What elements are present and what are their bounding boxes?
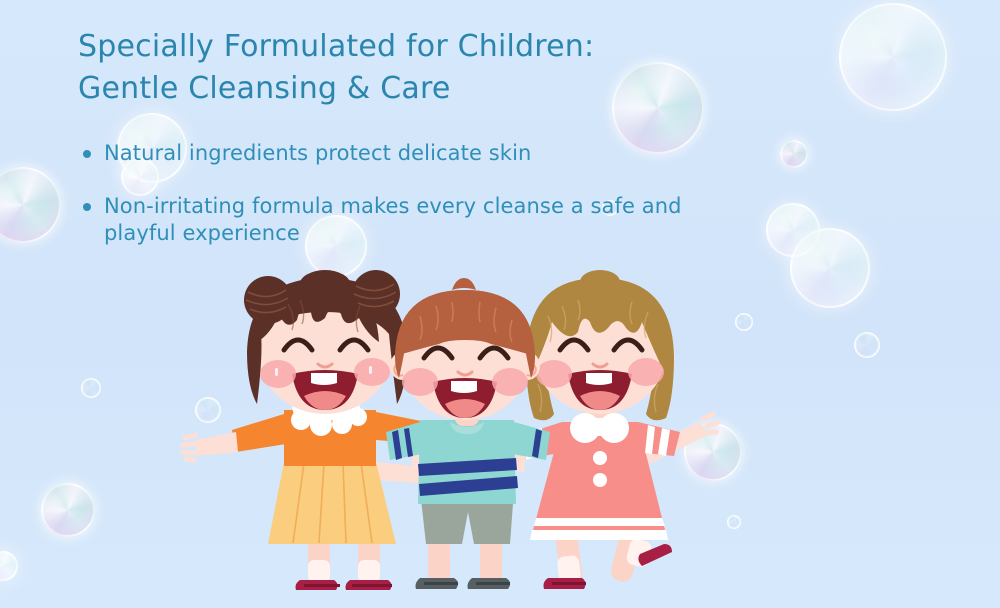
girl-right-button-1 — [593, 451, 607, 465]
bullet-text-2: Non-irritating formula makes every clean… — [104, 194, 682, 245]
girl-left-shoe-sole-right — [352, 584, 392, 587]
girl-left-sock-right — [358, 560, 380, 582]
girl-right-teeth — [586, 373, 612, 385]
girl-left-bun-right — [352, 270, 400, 318]
headline-line-2: Gentle Cleansing & Care — [78, 68, 718, 110]
boy-shoe-sole-left — [424, 582, 458, 585]
bullet-dot-icon — [83, 150, 91, 158]
girl-right-dress-hem — [530, 530, 668, 540]
girl-right-shoe-sole-left — [552, 582, 586, 585]
girl-right-blush-right — [628, 358, 664, 386]
girl-left-blush-shine-right — [369, 366, 372, 374]
soap-bubble — [839, 3, 947, 111]
soap-bubble — [790, 228, 870, 308]
bullet-item-1: Natural ingredients protect delicate ski… — [78, 140, 698, 167]
headline-line-1: Specially Formulated for Children: — [78, 26, 718, 68]
boy-blush-right — [492, 368, 528, 396]
girl-left-shoe-sole-left — [304, 584, 340, 587]
boy-shoe-sole-right — [476, 582, 510, 585]
soap-bubble — [41, 483, 95, 537]
headline: Specially Formulated for Children: Gentl… — [78, 26, 718, 110]
boy-blush-left — [402, 368, 438, 396]
boy-hair-tuft — [452, 278, 476, 290]
bullet-text-1: Natural ingredients protect delicate ski… — [104, 141, 531, 165]
girl-right-dress-stripe — [534, 518, 665, 526]
soap-bubble — [0, 167, 61, 243]
girl-right-blush-left — [536, 360, 572, 388]
girl-left-blush-shine-left — [275, 368, 278, 376]
bullet-item-2: Non-irritating formula makes every clean… — [78, 193, 698, 247]
poster-canvas: Specially Formulated for Children: Gentl… — [0, 0, 1000, 608]
girl-left-sleeve-left — [232, 414, 286, 452]
soap-bubble — [81, 378, 101, 398]
girl-left-hand — [180, 432, 199, 463]
girl-left-bun-left — [244, 276, 292, 324]
girl-left-skirt — [268, 462, 396, 544]
bullet-dot-icon — [83, 203, 91, 211]
girl-right-sleeve-right — [636, 422, 680, 456]
soap-bubble — [780, 140, 808, 168]
girl-right-button-2 — [593, 473, 607, 487]
child-girl-right — [518, 270, 721, 589]
girl-left-sock-left — [308, 560, 330, 582]
boy-teeth — [451, 381, 477, 393]
bullet-list: Natural ingredients protect delicate ski… — [78, 140, 698, 273]
children-illustration — [180, 272, 740, 608]
child-boy-middle — [386, 278, 550, 589]
girl-left-forearm — [196, 432, 238, 456]
girl-left-teeth — [311, 373, 337, 385]
girl-right-hair-crown — [580, 270, 620, 294]
girl-left-topknot — [299, 270, 351, 302]
soap-bubble — [854, 332, 880, 358]
soap-bubble — [0, 551, 18, 581]
